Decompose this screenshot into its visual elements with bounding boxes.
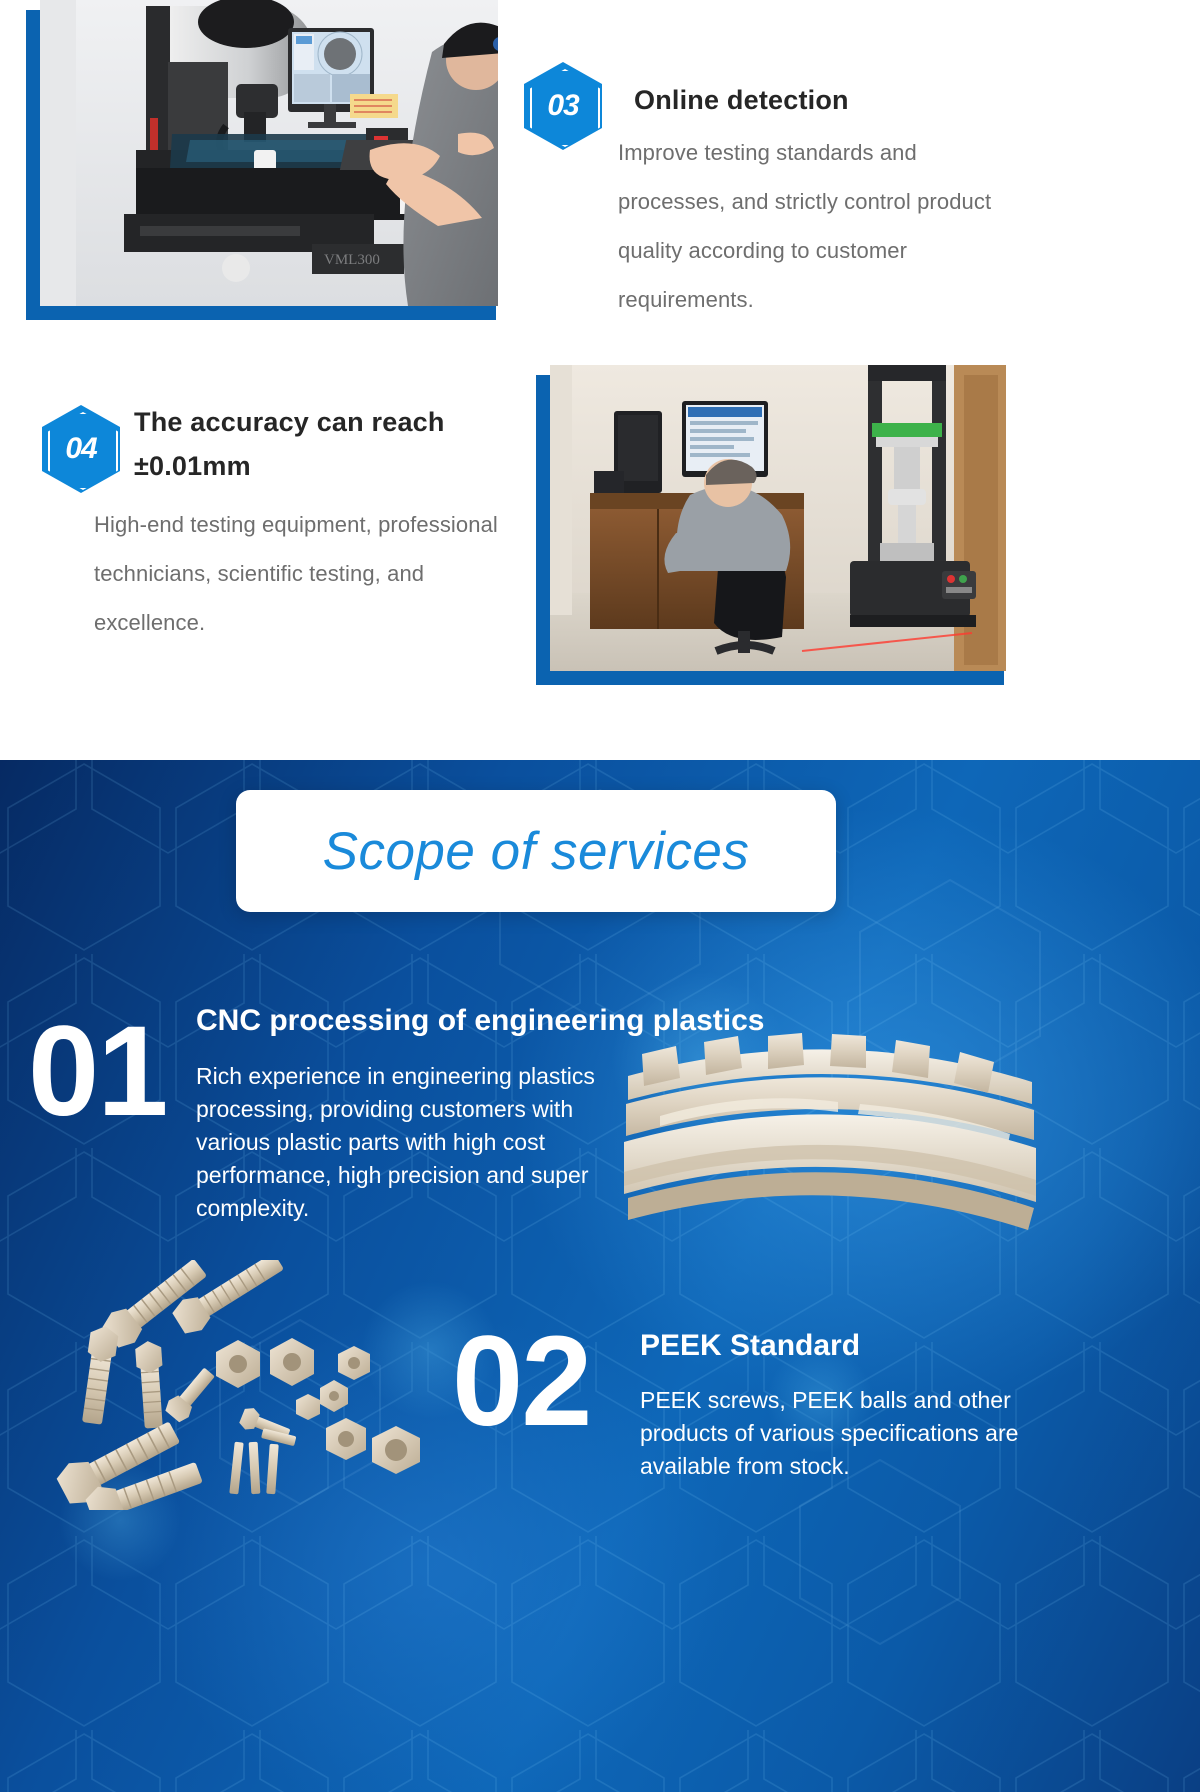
svg-text:VML300: VML300 — [324, 252, 380, 268]
hex-badge-04: 04 — [42, 405, 120, 493]
badge-number-03: 03 — [524, 62, 602, 150]
scope-title-card: Scope of services — [236, 790, 836, 912]
frame-edge-left — [26, 10, 40, 320]
feature-title-04: The accuracy can reach ±0.01mm — [134, 400, 514, 488]
measuring-machine-illustration: VML300 — [40, 0, 498, 306]
frame-edge-left-2 — [536, 375, 550, 685]
accuracy-photo-frame — [536, 365, 1014, 685]
frame-edge-bottom — [26, 306, 496, 320]
detection-photo-frame: VML300 — [26, 0, 506, 320]
badge-number-04: 04 — [42, 405, 120, 493]
accuracy-photo — [550, 365, 1006, 671]
tensile-test-lab-illustration — [550, 365, 1006, 671]
peek-hardware-image — [40, 1260, 470, 1510]
feature-body-04: High-end testing equipment, professional… — [94, 500, 514, 647]
peek-machined-part-image — [620, 1030, 1040, 1260]
scope-banner-title: Scope of services — [323, 821, 750, 882]
hex-badge-03: 03 — [524, 62, 602, 150]
scope-item-body-01: Rich experience in engineering plastics … — [196, 1060, 596, 1225]
scope-item-body-02: PEEK screws, PEEK balls and other produc… — [640, 1384, 1040, 1483]
scope-item-title-02: PEEK Standard — [640, 1325, 860, 1367]
frame-edge-bottom-2 — [536, 671, 1004, 685]
feature-title-03: Online detection — [634, 78, 1174, 122]
detection-photo: VML300 — [40, 0, 498, 306]
scope-item-number-02: 02 — [452, 1318, 590, 1446]
features-section: VML300 — [0, 0, 1200, 865]
scope-item-number-01: 01 — [28, 1008, 166, 1136]
feature-body-03: Improve testing standards and processes,… — [618, 128, 1018, 324]
